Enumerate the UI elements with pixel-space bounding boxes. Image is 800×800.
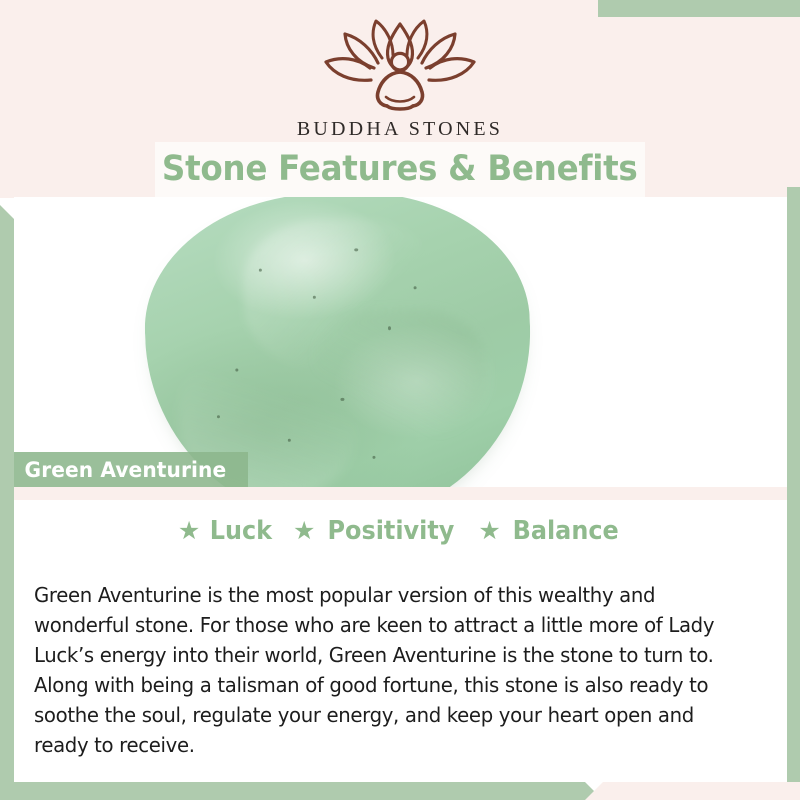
stone-speck — [258, 268, 261, 271]
benefit-item-positivity: ★ Positivity — [293, 518, 460, 544]
stone-speck — [387, 326, 390, 330]
title-banner: Stone Features & Benefits — [155, 142, 645, 197]
star-icon: ★ — [478, 519, 500, 544]
brand-wordmark: BUDDHA STONES — [0, 118, 800, 141]
benefit-item-balance: ★ Balance — [478, 518, 623, 544]
stone-speck — [235, 368, 238, 371]
benefits-row: ★ Luck ★ Positivity ★ Balance — [14, 518, 787, 544]
stone-speck — [373, 456, 376, 459]
benefit-label: Luck — [210, 518, 272, 544]
page-title: Stone Features & Benefits — [162, 152, 638, 187]
stone-speck — [354, 248, 358, 251]
lotus-meditating-figure-icon — [314, 18, 486, 114]
stone-speck — [340, 397, 344, 400]
brand-logo-block: BUDDHA STONES — [0, 18, 800, 141]
stone-description-text: Green Aventurine is the most popular ver… — [34, 580, 748, 760]
star-icon: ★ — [178, 519, 200, 544]
stone-name-bar: Green Aventurine — [14, 452, 248, 487]
star-icon: ★ — [293, 519, 315, 544]
benefit-label: Balance — [512, 518, 618, 544]
stone-info-poster: BUDDHA STONES Stone Features & Benefits … — [0, 0, 800, 800]
stone-speck — [287, 439, 290, 442]
stone-speck — [413, 286, 416, 289]
bottom-right-pink-wedge — [585, 782, 800, 800]
stone-name-label: Green Aventurine — [14, 458, 226, 482]
top-right-green-accent — [598, 0, 800, 17]
benefit-item-luck: ★ Luck — [178, 518, 275, 544]
benefit-label: Positivity — [328, 518, 455, 544]
photo-bottom-seam — [14, 487, 787, 500]
left-green-border-strip — [0, 205, 14, 800]
